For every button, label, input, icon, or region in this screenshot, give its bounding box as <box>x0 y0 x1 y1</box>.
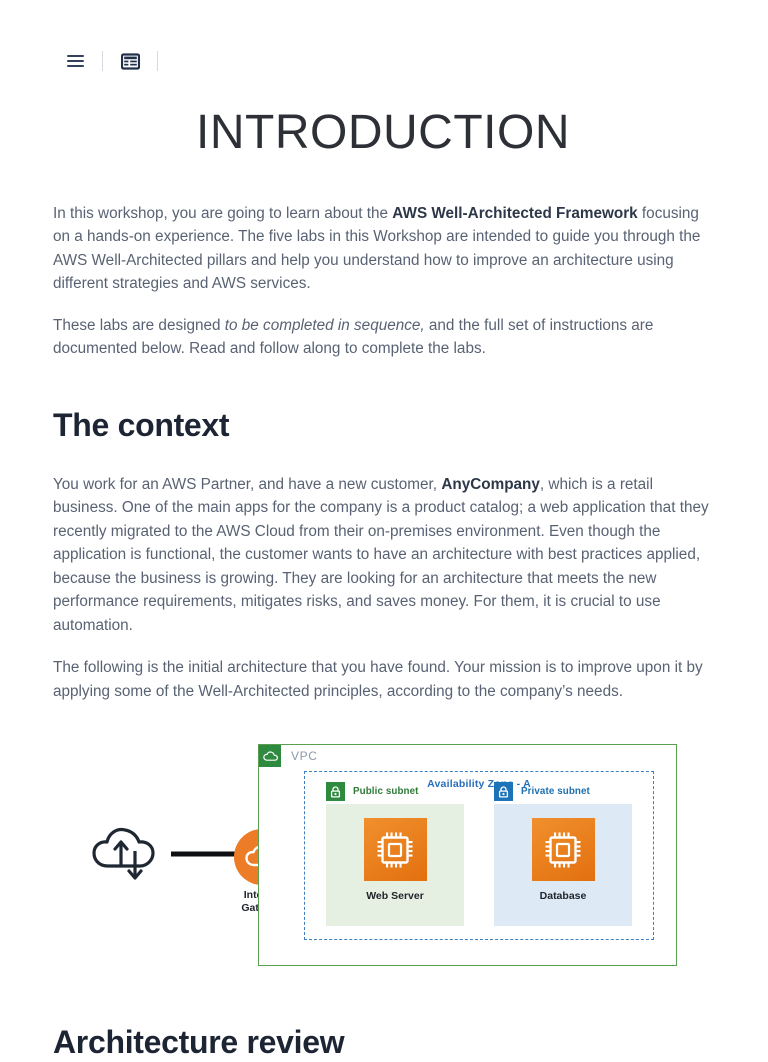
internet-cloud-icon <box>91 824 166 886</box>
page-title: INTRODUCTION <box>53 0 713 162</box>
web-server-node: Web Server <box>359 818 431 902</box>
table-layout-button[interactable] <box>117 48 143 74</box>
private-subnet-header: Private subnet <box>494 782 590 801</box>
vpc-boundary: VPC Availability Zone - A <box>258 744 677 966</box>
aws-framework-emphasis: AWS Well-Architected Framework <box>392 205 637 222</box>
architecture-diagram-canvas: Internet Gateway VPC <box>53 739 713 974</box>
private-subnet-label: Private subnet <box>521 786 590 797</box>
hamburger-menu-icon <box>67 52 84 70</box>
page-root: INTRODUCTION In this workshop, you are g… <box>0 0 768 1062</box>
ec2-instance-icon <box>532 818 595 881</box>
public-subnet-box: Public subnet <box>326 804 464 926</box>
lock-icon <box>326 782 345 801</box>
context-p1-part-a: You work for an AWS Partner, and have a … <box>53 476 441 493</box>
vpc-label: VPC <box>291 749 317 763</box>
database-label: Database <box>527 890 599 902</box>
availability-zone-boundary: Availability Zone - A <box>304 771 654 940</box>
public-subnet-header: Public subnet <box>326 782 419 801</box>
vpc-header: VPC <box>259 745 317 767</box>
top-toolbar <box>62 48 172 74</box>
intro-p2-part-a: These labs are designed <box>53 317 225 334</box>
heading-the-context: The context <box>53 405 713 445</box>
vpc-cloud-icon <box>259 745 281 767</box>
sequence-emphasis: to be completed in sequence, <box>225 317 425 334</box>
database-node: Database <box>527 818 599 902</box>
lock-icon <box>494 782 513 801</box>
public-subnet-label: Public subnet <box>353 786 419 797</box>
ec2-instance-icon <box>364 818 427 881</box>
context-p1-part-b: , which is a retail business. One of the… <box>53 476 709 634</box>
context-paragraph-1: You work for an AWS Partner, and have a … <box>53 473 713 638</box>
document-content: INTRODUCTION In this workshop, you are g… <box>0 0 768 1062</box>
anycompany-emphasis: AnyCompany <box>441 476 540 493</box>
context-paragraph-2: The following is the initial architectur… <box>53 656 713 703</box>
table-layout-icon <box>121 52 140 71</box>
toolbar-divider-2 <box>157 51 158 71</box>
private-subnet-box: Private subnet <box>494 804 632 926</box>
architecture-diagram: Internet Gateway VPC <box>53 739 713 974</box>
heading-architecture-review: Architecture review <box>53 1022 713 1062</box>
hamburger-menu-button[interactable] <box>62 48 88 74</box>
web-server-label: Web Server <box>359 890 431 902</box>
intro-p1-part-a: In this workshop, you are going to learn… <box>53 205 392 222</box>
intro-paragraph-2: These labs are designed to be completed … <box>53 314 713 361</box>
intro-paragraph-1: In this workshop, you are going to learn… <box>53 202 713 296</box>
toolbar-divider-1 <box>102 51 103 71</box>
